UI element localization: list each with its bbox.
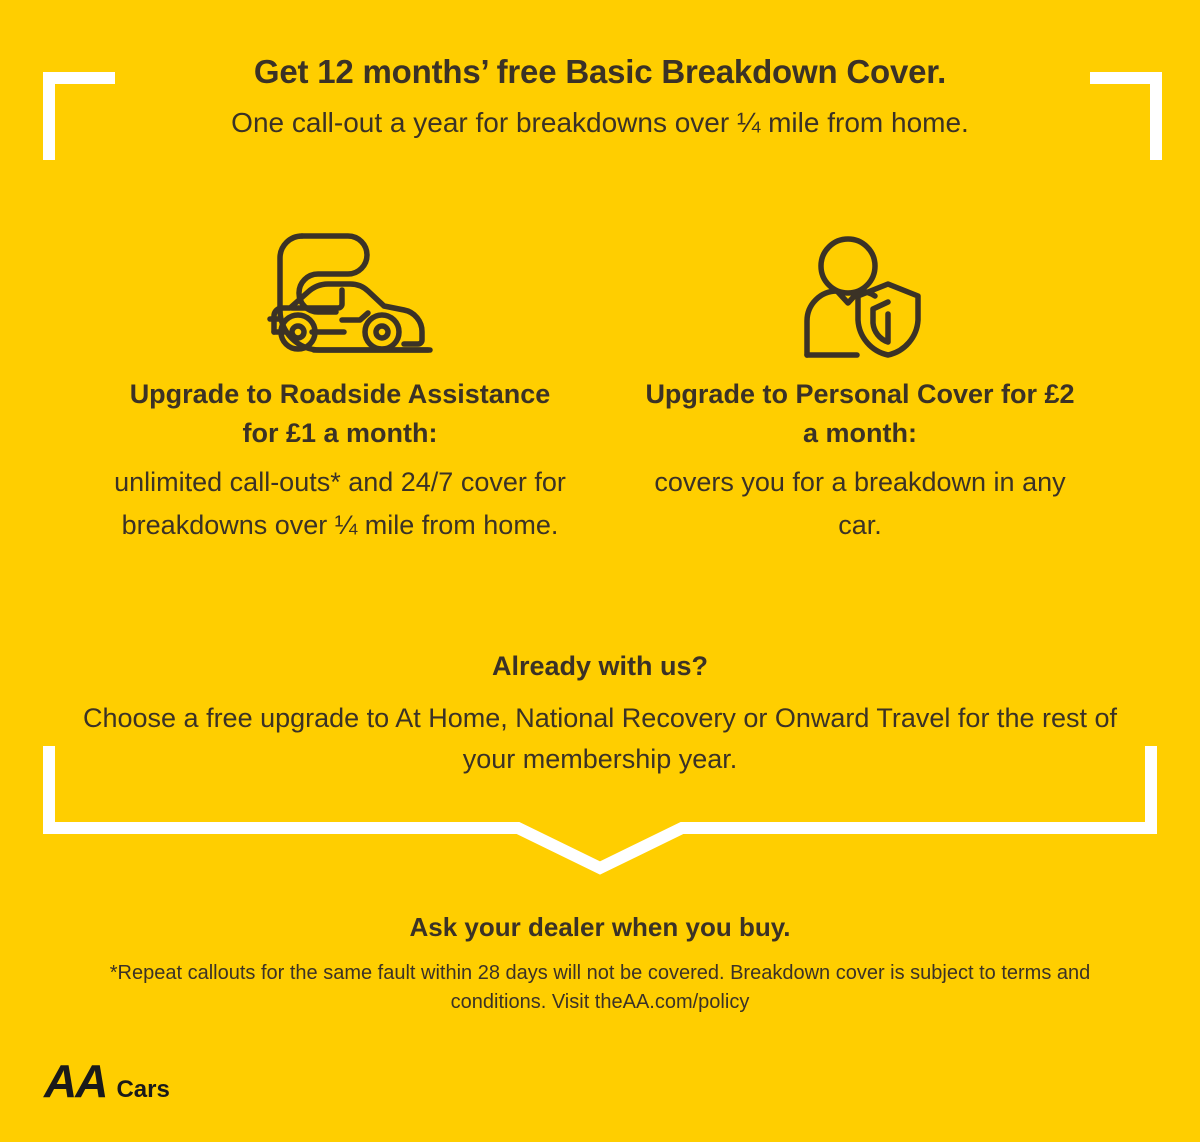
footer-call-to-action: Ask your dealer when you buy.	[0, 912, 1200, 943]
footer-disclaimer: *Repeat callouts for the same fault with…	[85, 959, 1115, 1017]
already-with-us-section: Already with us? Choose a free upgrade t…	[0, 650, 1200, 779]
aa-cars-logo: AA Cars	[44, 1058, 170, 1104]
already-with-us-body: Choose a free upgrade to At Home, Nation…	[70, 698, 1130, 779]
feature-title-roadside: Upgrade to Roadside Assistance for £1 a …	[125, 375, 555, 453]
footer: Ask your dealer when you buy. *Repeat ca…	[0, 912, 1200, 1017]
already-with-us-title: Already with us?	[0, 650, 1200, 682]
aa-wordmark: AA	[44, 1058, 106, 1104]
feature-body-personal: covers you for a breakdown in any car.	[630, 461, 1090, 547]
feature-column-personal: Upgrade to Personal Cover for £2 a month…	[600, 210, 1120, 548]
feature-column-roadside: Upgrade to Roadside Assistance for £1 a …	[80, 210, 600, 548]
feature-columns: Upgrade to Roadside Assistance for £1 a …	[0, 210, 1200, 548]
page-title: Get 12 months’ free Basic Breakdown Cove…	[0, 52, 1200, 92]
header: Get 12 months’ free Basic Breakdown Cove…	[0, 52, 1200, 139]
person-with-shield-icon	[795, 210, 925, 375]
promo-poster: Get 12 months’ free Basic Breakdown Cove…	[0, 0, 1200, 1142]
page-subtitle: One call-out a year for breakdowns over …	[0, 106, 1200, 140]
car-on-winding-road-icon	[240, 210, 440, 375]
feature-body-roadside: unlimited call-outs* and 24/7 cover for …	[95, 461, 585, 547]
cars-wordmark: Cars	[116, 1078, 169, 1102]
feature-title-personal: Upgrade to Personal Cover for £2 a month…	[645, 375, 1075, 453]
